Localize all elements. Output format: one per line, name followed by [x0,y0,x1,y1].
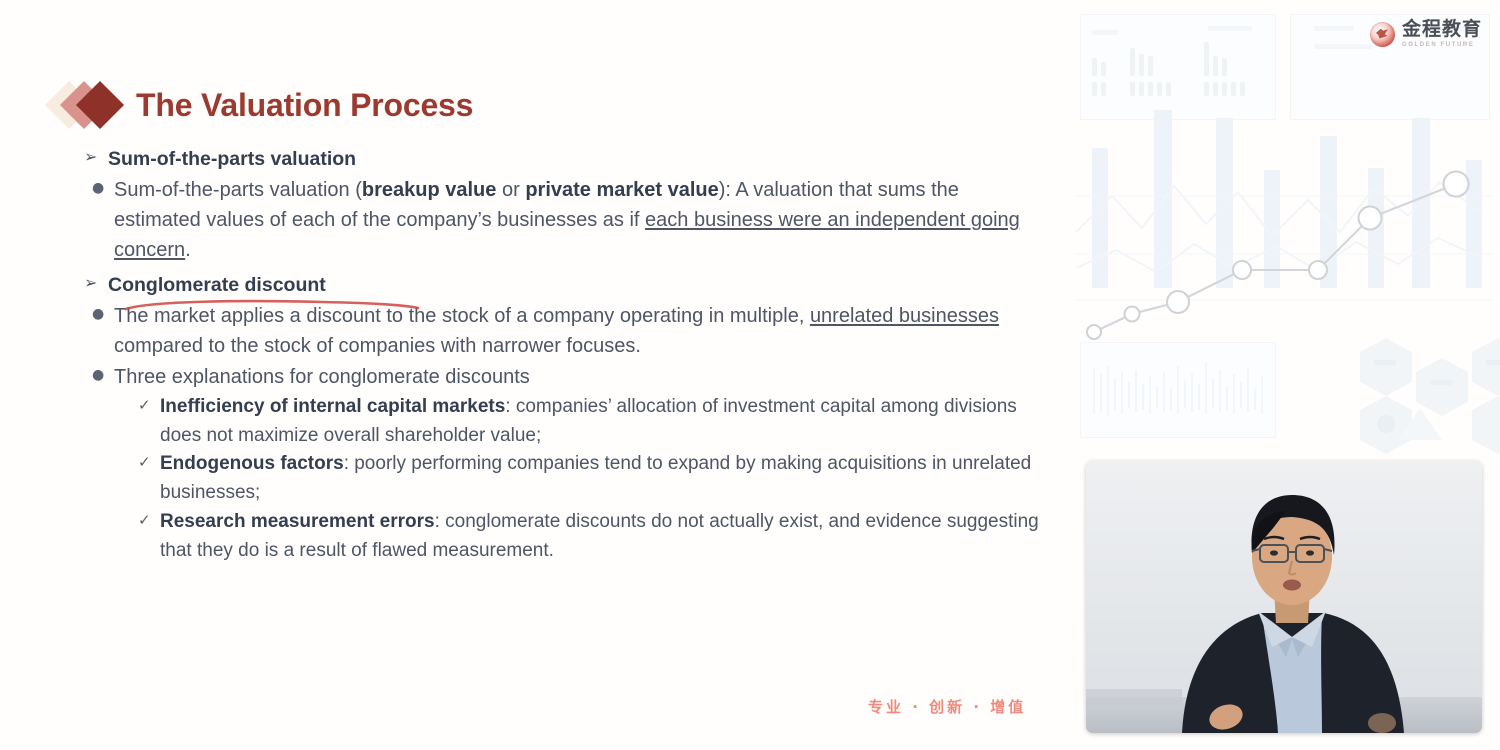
deco-svg [1068,0,1500,458]
sub-bullet-text: Endogenous factors: poorly performing co… [160,450,1044,508]
bullet-text: The market applies a discount to the sto… [114,301,1044,362]
check-bullet-icon: ✓ [134,393,160,451]
golden-future-circle-icon [1370,22,1395,47]
sub-bullet-text: Inefficiency of internal capital markets… [160,393,1044,451]
instructor-mouth [1283,580,1301,591]
decorative-infographic-watermark [1068,0,1500,458]
bullet-text: Sum-of-the-parts valuation (breakup valu… [114,175,1044,266]
diamond-decoration-icon [52,80,134,130]
sub-bullet-text: Research measurement errors: conglomerat… [160,508,1044,566]
arrow-bullet-icon: ➢ [84,272,108,300]
brand-logo: 金程教育 GOLDEN FUTURE [1370,20,1482,48]
slide-title-row: The Valuation Process [52,80,473,130]
presentation-slide: 金程教育 GOLDEN FUTURE The Valuation Process… [0,0,1500,750]
dot-bullet-icon: ● [84,175,114,266]
sub-bullet-item: ✓ Inefficiency of internal capital marke… [134,393,1044,451]
deco-candlestick-strip [1094,362,1262,416]
brand-name-en: GOLDEN FUTURE [1402,42,1482,48]
slide-body: ➢ Sum-of-the-parts valuation ● Sum-of-th… [84,144,1044,566]
sub-bullet-item: ✓ Endogenous factors: poorly performing … [134,450,1044,508]
bullet-item: ● The market applies a discount to the s… [84,301,1044,362]
deco-pictograms [1092,42,1245,96]
webcam-frame [1086,461,1482,733]
sub-bullet-item: ✓ Research measurement errors: conglomer… [134,508,1044,566]
dot-bullet-icon: ● [84,301,114,362]
bullet-item: ● Sum-of-the-parts valuation (breakup va… [84,175,1044,266]
arrow-bullet-icon: ➢ [84,146,108,174]
dot-bullet-icon: ● [84,362,114,392]
brand-name-cn: 金程教育 [1402,20,1482,39]
check-bullet-icon: ✓ [134,508,160,566]
instructor-video-feed[interactable] [1086,461,1482,733]
bullet-item: ● Three explanations for conglomerate di… [84,362,1044,392]
section-heading-label: Sum-of-the-parts valuation [108,146,1044,174]
sub-bullet-group: ✓ Inefficiency of internal capital marke… [84,393,1044,566]
section-heading-sum-of-the-parts: ➢ Sum-of-the-parts valuation [84,146,1044,174]
footer-tagline: 专业 · 创新 · 增值 [868,696,1026,717]
page-title: The Valuation Process [136,87,473,124]
section-heading-label: Conglomerate discount [108,272,1044,300]
section-heading-conglomerate-discount: ➢ Conglomerate discount [84,272,1044,300]
bullet-text: Three explanations for conglomerate disc… [114,362,1044,392]
check-bullet-icon: ✓ [134,450,160,508]
